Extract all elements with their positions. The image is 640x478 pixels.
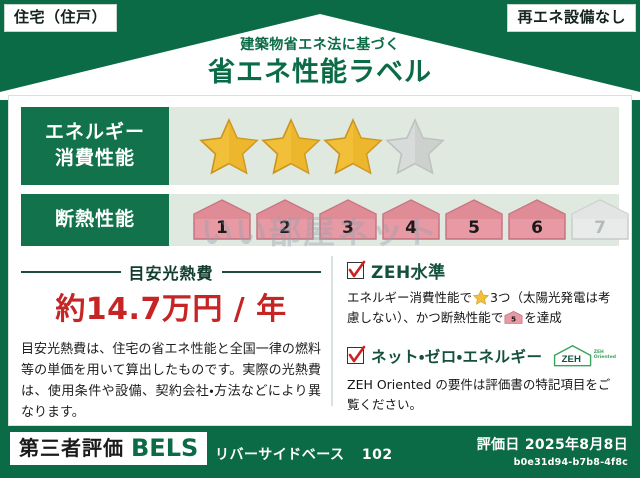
- insulation-performance-value-cell: 1 2 3 4: [169, 194, 631, 246]
- zeh-badge-sub: ZEH Oriented: [594, 351, 623, 361]
- zeh-house-logo-icon: ZEH: [552, 342, 593, 370]
- zeh-logo-badge: ZEH ZEH Oriented: [552, 342, 623, 370]
- svg-text:6: 6: [531, 218, 543, 238]
- star-icon: [473, 289, 489, 305]
- zeh-standard-heading: ZEH水準: [347, 258, 623, 283]
- heading-rule-left: [21, 271, 121, 273]
- energy-label-line1: エネルギー: [45, 120, 145, 146]
- page-title: 省エネ性能ラベル: [0, 58, 640, 88]
- property-unit: 102: [362, 447, 393, 463]
- utility-cost-title: 目安光熱費: [129, 260, 214, 284]
- energy-performance-label-cell: エネルギー 消費性能: [21, 107, 169, 185]
- house-level-icon-1: 1: [191, 198, 253, 242]
- svg-text:2: 2: [279, 218, 291, 238]
- utility-cost-heading: 目安光熱費: [21, 260, 321, 284]
- insulation-label: 断熱性能: [55, 207, 135, 233]
- property-name: リバーサイドベース: [215, 447, 345, 463]
- insulation-level-scale: 1 2 3 4: [191, 198, 631, 242]
- zeh-section: ZEH水準 エネルギー消費性能で3つ（太陽光発電は考慮しない）、かつ断熱性能で5…: [333, 256, 623, 406]
- svg-text:7: 7: [594, 218, 606, 238]
- energy-performance-row: エネルギー 消費性能: [21, 107, 619, 185]
- energy-label-line2: 消費性能: [55, 146, 135, 172]
- svg-text:1: 1: [216, 218, 228, 238]
- svg-text:4: 4: [405, 218, 417, 238]
- bels-en-label: BELS: [131, 436, 198, 460]
- zeh-standard-title: ZEH水準: [371, 258, 446, 283]
- evaluation-date-value: 2025年8月8日: [525, 437, 628, 453]
- evaluation-id: b0e31d94-b7b8-4f8c: [477, 457, 628, 468]
- energy-performance-value-cell: [169, 107, 619, 185]
- header-subtitle: 建築物省エネ法に基づく: [0, 38, 640, 52]
- check-icon: [347, 260, 366, 282]
- svg-text:3: 3: [342, 218, 354, 238]
- badge-renewable-equipment: 再エネ設備なし: [507, 4, 636, 32]
- star-icon: [261, 117, 321, 175]
- property-info: リバーサイドベース 102: [215, 444, 393, 464]
- check-icon: [347, 345, 366, 367]
- zeh-net-zero-heading: ネット・ゼロ・エネルギー ZEH ZEH Oriented: [347, 342, 623, 370]
- house-level-icon-6: 6: [506, 198, 568, 242]
- zeh-net-zero-block: ネット・ゼロ・エネルギー ZEH ZEH Oriented ZEH Orient…: [347, 342, 623, 416]
- bels-logo: 第三者評価 BELS: [10, 432, 207, 465]
- footer: 第三者評価 BELS リバーサイドベース 102 評価日 2025年8月8日 b…: [0, 426, 640, 478]
- insulation-performance-label-cell: 断熱性能: [21, 194, 169, 246]
- main-panel: エネルギー 消費性能: [8, 95, 632, 426]
- svg-text:5: 5: [468, 218, 480, 238]
- house-level-icon-7-empty: 7: [569, 198, 631, 242]
- zeh-net-zero-title: ネット・ゼロ・エネルギー: [371, 345, 543, 367]
- badge-building-type: 住宅（住戸）: [4, 4, 117, 32]
- energy-performance-label: 建築物省エネ法に基づく 省エネ性能ラベル 住宅（住戸） 再エネ設備なし エネルギ…: [0, 0, 640, 478]
- star-icon: [323, 117, 383, 175]
- evaluation-info: 評価日 2025年8月8日 b0e31d94-b7b8-4f8c: [477, 434, 628, 468]
- zeh-standard-checkbox[interactable]: [347, 262, 364, 279]
- house-level-icon-2: 2: [254, 198, 316, 242]
- header: 建築物省エネ法に基づく 省エネ性能ラベル: [0, 38, 640, 88]
- evaluation-date: 評価日 2025年8月8日: [477, 434, 628, 454]
- zeh-desc-part3: を達成: [524, 310, 562, 325]
- svg-text:5: 5: [511, 315, 516, 324]
- evaluation-date-label: 評価日: [477, 437, 520, 453]
- house-level-icon-5: 5: [443, 198, 505, 242]
- star-rating: [199, 117, 445, 175]
- house-level-badge-icon: 5: [504, 310, 523, 325]
- utility-cost-section: 目安光熱費 約14.7万円 / 年 目安光熱費は、住宅の省エネ性能と全国一律の燃…: [21, 256, 333, 406]
- zeh-net-zero-checkbox[interactable]: [347, 347, 364, 364]
- utility-cost-amount: 約14.7万円 / 年: [21, 293, 321, 326]
- zeh-desc-part1: エネルギー消費性能で: [347, 290, 472, 305]
- zeh-net-zero-description: ZEH Oriented の要件は評価書の特記項目をご覧ください。: [347, 375, 623, 416]
- house-level-icon-4: 4: [380, 198, 442, 242]
- lower-section: 目安光熱費 約14.7万円 / 年 目安光熱費は、住宅の省エネ性能と全国一律の燃…: [21, 256, 619, 406]
- house-level-icon-3: 3: [317, 198, 379, 242]
- svg-text:ZEH: ZEH: [561, 353, 580, 364]
- star-icon: [199, 117, 259, 175]
- zeh-standard-block: ZEH水準 エネルギー消費性能で3つ（太陽光発電は考慮しない）、かつ断熱性能で5…: [347, 258, 623, 329]
- utility-cost-note: 目安光熱費は、住宅の省エネ性能と全国一律の燃料等の単価を用いて算出したものです。…: [21, 339, 321, 423]
- star-icon-empty: [385, 117, 445, 175]
- heading-rule-right: [222, 271, 322, 273]
- zeh-standard-description: エネルギー消費性能で3つ（太陽光発電は考慮しない）、かつ断熱性能で5を達成: [347, 288, 623, 329]
- bels-jp-label: 第三者評価: [19, 438, 124, 458]
- insulation-performance-row: 断熱性能 1 2: [21, 194, 619, 246]
